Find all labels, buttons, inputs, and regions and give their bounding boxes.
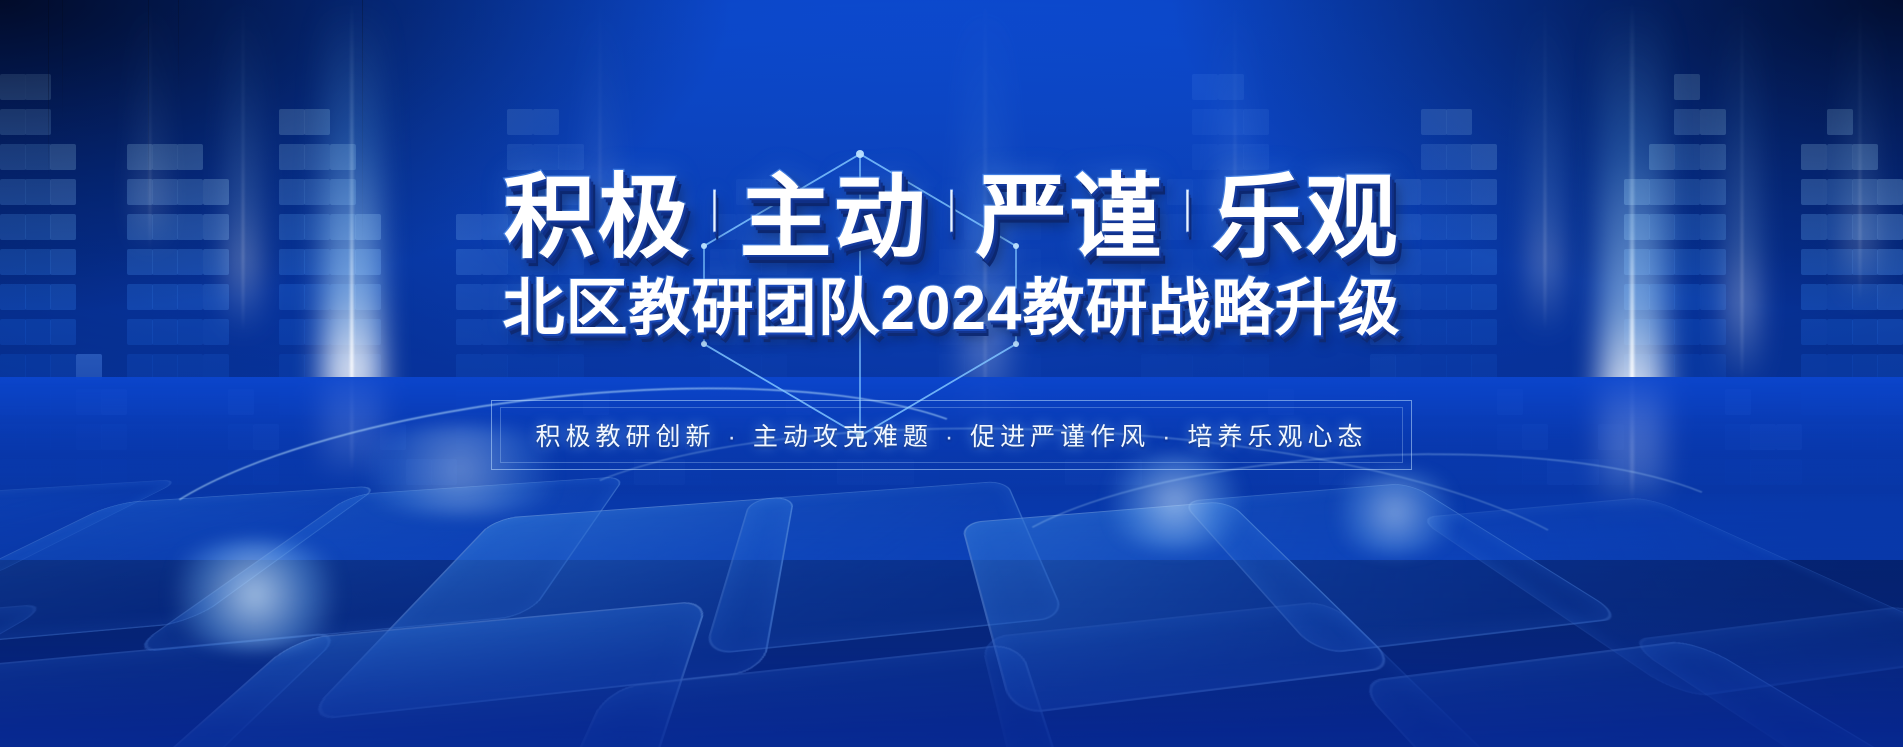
title-word: 主动 — [739, 167, 927, 269]
banner-content: 积极丨主动丨严谨丨乐观 北区教研团队2024教研战略升级 积极教研创新·主动攻克… — [0, 0, 1903, 747]
tagline-item: 积极教研创新 — [535, 423, 715, 451]
title-word: 积极 — [503, 167, 691, 269]
tagline-separator: · — [727, 423, 740, 451]
tagline-separator: · — [945, 423, 958, 451]
title-word: 乐观 — [1212, 167, 1400, 269]
tagline-separator: · — [1162, 423, 1175, 451]
tagline-item: 主动攻克难题 — [753, 423, 933, 451]
title-separator: 丨 — [941, 191, 962, 235]
title-word: 严谨 — [976, 167, 1164, 269]
title-separator: 丨 — [705, 191, 726, 235]
tagline-box: 积极教研创新·主动攻克难题·促进严谨作风·培养乐观心态 — [491, 400, 1411, 470]
event-banner: 积极丨主动丨严谨丨乐观 北区教研团队2024教研战略升级 积极教研创新·主动攻克… — [0, 0, 1903, 747]
page-title: 积极丨主动丨严谨丨乐观 — [503, 172, 1399, 264]
tagline-item: 促进严谨作风 — [970, 423, 1150, 451]
page-subtitle: 北区教研团队2024教研战略升级 — [503, 278, 1401, 340]
tagline-item: 培养乐观心态 — [1188, 423, 1368, 451]
title-separator: 丨 — [1177, 191, 1198, 235]
tagline-text: 积极教研创新·主动攻克难题·促进严谨作风·培养乐观心态 — [535, 417, 1367, 453]
